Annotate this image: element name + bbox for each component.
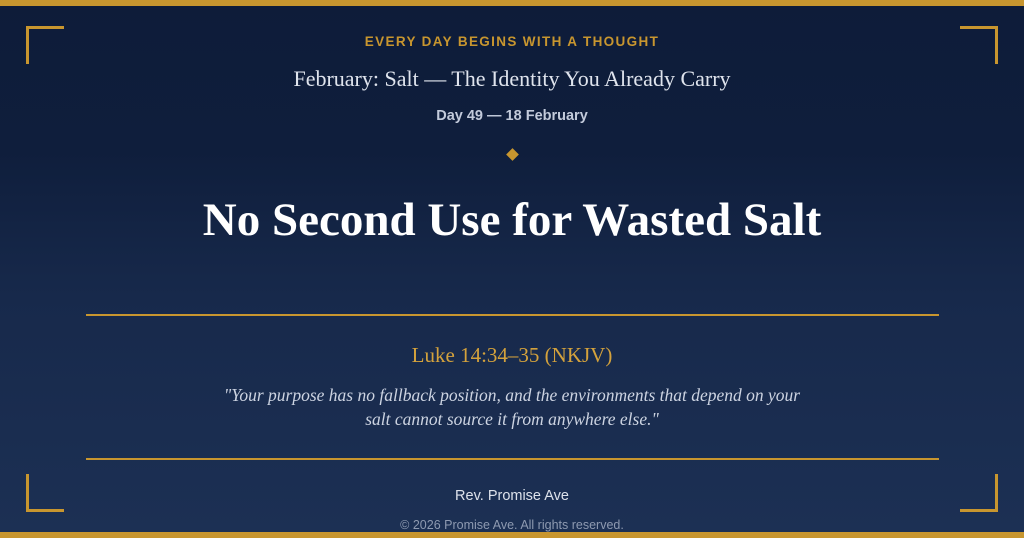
diamond-ornament-icon	[506, 149, 519, 162]
series-title: February: Salt — The Identity You Alread…	[293, 66, 730, 92]
devotional-quote: "Your purpose has no fallback position, …	[212, 383, 812, 433]
author-name: Rev. Promise Ave	[455, 489, 569, 504]
kicker-tagline: EVERY DAY BEGINS WITH A THOUGHT	[365, 35, 659, 49]
card-content: EVERY DAY BEGINS WITH A THOUGHT February…	[0, 0, 1024, 538]
devotional-card: EVERY DAY BEGINS WITH A THOUGHT February…	[0, 0, 1024, 538]
divider-lower	[86, 458, 939, 460]
divider-upper	[86, 314, 939, 316]
page-title: No Second Use for Wasted Salt	[203, 195, 821, 246]
verse-reference: Luke 14:34–35 (NKJV)	[412, 345, 613, 366]
day-date-line: Day 49 — 18 February	[436, 109, 588, 124]
copyright-notice: © 2026 Promise Ave. All rights reserved.	[400, 519, 624, 532]
